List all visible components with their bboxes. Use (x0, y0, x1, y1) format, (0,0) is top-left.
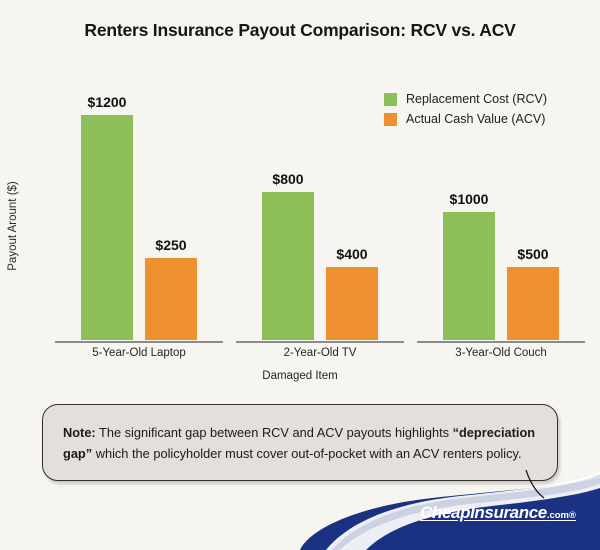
brand-logo[interactable]: CheapInsurance.com® (300, 470, 600, 550)
bar-value-label: $1000 (450, 191, 489, 207)
bar-value-label: $250 (155, 237, 186, 253)
legend-label-rcv: Replacement Cost (RCV) (406, 92, 547, 106)
bar-value-label: $500 (517, 246, 548, 262)
bar-rcv[interactable] (262, 192, 314, 340)
page-title: Renters Insurance Payout Comparison: RCV… (0, 20, 600, 41)
infographic-root: Renters Insurance Payout Comparison: RCV… (0, 0, 600, 550)
bar-rcv[interactable] (81, 115, 133, 340)
bar-item-rcv-tv[interactable]: $800 (262, 70, 314, 340)
logo-name: CheapInsurance (420, 503, 547, 522)
x-tick-laptop: 5-Year-Old Laptop (55, 347, 223, 359)
legend-label-acv: Actual Cash Value (ACV) (406, 112, 545, 126)
group-baseline (417, 341, 585, 343)
chart-legend: Replacement Cost (RCV) Actual Cash Value… (384, 92, 547, 132)
bar-value-label: $1200 (88, 94, 127, 110)
bar-rcv[interactable] (443, 212, 495, 340)
y-axis-label: Payout Arount ($) (7, 151, 19, 301)
bar-acv[interactable] (326, 267, 378, 340)
note-lead: Note: (63, 425, 96, 440)
bar-item-acv-laptop[interactable]: $250 (145, 70, 197, 340)
note-part-2: which the policyholder must cover out-of… (92, 446, 521, 461)
group-baseline (55, 341, 223, 343)
bar-acv[interactable] (145, 258, 197, 340)
legend-item-rcv[interactable]: Replacement Cost (RCV) (384, 92, 547, 106)
bar-value-label: $400 (336, 246, 367, 262)
bar-item-rcv-laptop[interactable]: $1200 (81, 70, 133, 340)
bar-group-tv: $800 $400 (236, 70, 404, 340)
note-part-1: The significant gap between RCV and ACV … (96, 425, 453, 440)
bar-value-label: $800 (272, 171, 303, 187)
legend-swatch-rcv-icon (384, 93, 397, 106)
bar-group-laptop: $1200 $250 (55, 70, 223, 340)
group-baseline (236, 341, 404, 343)
logo-wordmark: CheapInsurance.com® (420, 503, 576, 523)
bar-item-acv-tv[interactable]: $400 (326, 70, 378, 340)
bar-acv[interactable] (507, 267, 559, 340)
note-text: Note: The significant gap between RCV an… (63, 422, 537, 464)
x-tick-couch: 3-Year-Old Couch (417, 347, 585, 359)
x-axis-tick-labels: 5-Year-Old Laptop 2-Year-Old TV 3-Year-O… (55, 347, 585, 359)
x-axis-label: Damaged Item (0, 370, 600, 382)
legend-swatch-acv-icon (384, 113, 397, 126)
legend-item-acv[interactable]: Actual Cash Value (ACV) (384, 112, 547, 126)
logo-tld: .com® (547, 510, 576, 521)
x-tick-tv: 2-Year-Old TV (236, 347, 404, 359)
